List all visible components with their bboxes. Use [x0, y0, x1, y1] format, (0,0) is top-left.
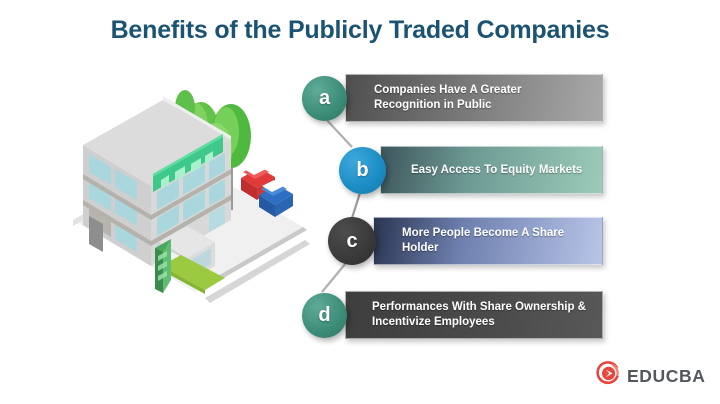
benefit-text-d: Performances With Share Ownership & Ince… [346, 300, 586, 330]
connector-lines [0, 0, 720, 404]
benefit-item-c[interactable]: More People Become A Share Holder c [325, 217, 615, 265]
benefit-badge-a[interactable]: a [302, 76, 347, 121]
benefit-badge-b[interactable]: b [339, 147, 386, 194]
benefit-text-b: Easy Access To Equity Markets [381, 163, 582, 178]
benefit-bar-a[interactable]: Companies Have A Greater Recognition in … [345, 74, 603, 122]
benefit-bar-d[interactable]: Performances With Share Ownership & Ince… [345, 291, 603, 339]
educba-logo[interactable]: EDUCBA [595, 361, 705, 391]
benefit-bar-b[interactable]: Easy Access To Equity Markets [380, 146, 603, 194]
benefit-bar-c[interactable]: More People Become A Share Holder [373, 217, 603, 265]
benefit-badge-c[interactable]: c [328, 217, 376, 265]
benefits-chain: Companies Have A Greater Recognition in … [0, 0, 720, 404]
educba-swoosh-icon [595, 361, 620, 391]
educba-logo-text: EDUCBA [627, 366, 705, 387]
benefit-badge-d[interactable]: d [302, 293, 347, 338]
benefit-text-c: More People Become A Share Holder [374, 226, 564, 256]
benefit-item-a[interactable]: Companies Have A Greater Recognition in … [295, 74, 615, 122]
benefit-item-d[interactable]: Performances With Share Ownership & Ince… [295, 291, 615, 339]
benefit-text-a: Companies Have A Greater Recognition in … [346, 83, 521, 113]
benefit-item-b[interactable]: Easy Access To Equity Markets b [335, 146, 615, 194]
